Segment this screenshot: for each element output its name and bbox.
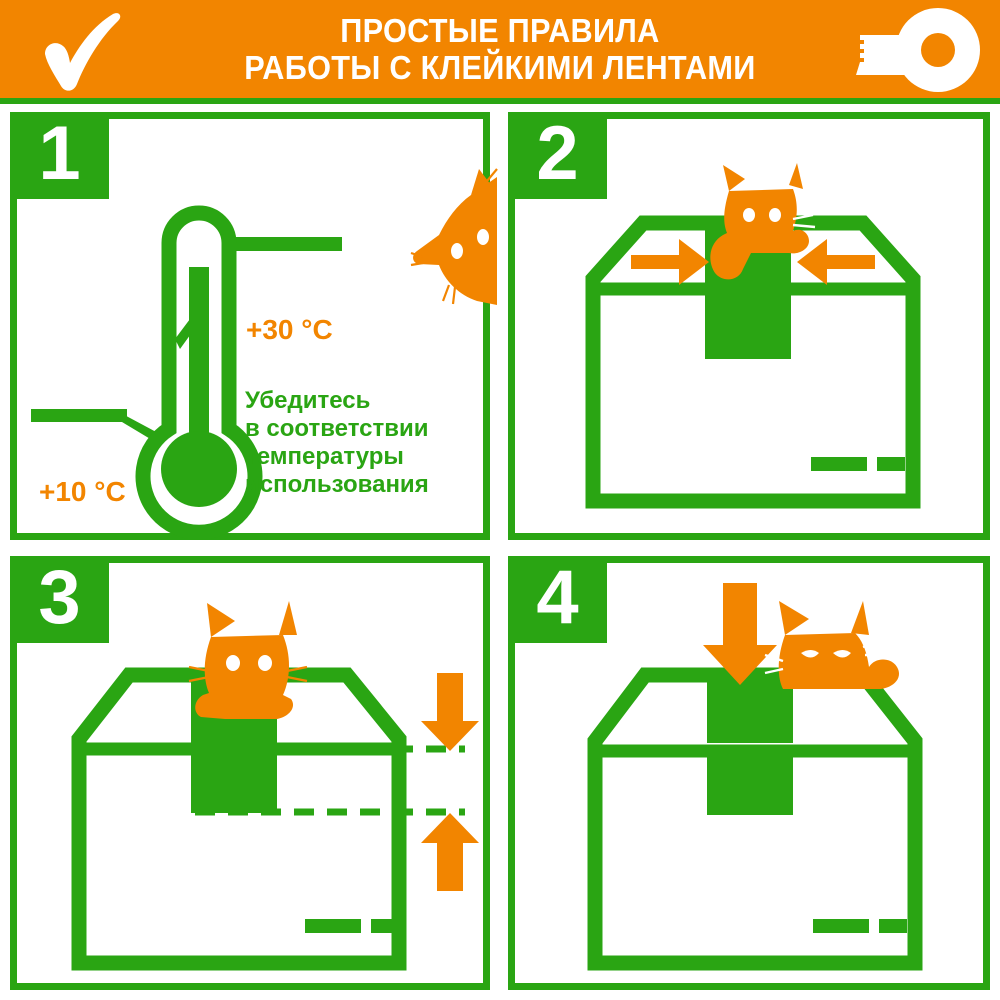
step-number-badge-4: 4	[508, 556, 607, 643]
title-line-2: РАБОТЫ С КЛЕЙКИМИ ЛЕНТАМИ	[244, 49, 755, 86]
cat-lying-on-box-icon	[763, 595, 923, 715]
temperature-min-label: +10 °C	[39, 477, 126, 507]
check-mark-icon	[33, 8, 129, 94]
cat-draped-over-box-icon	[693, 157, 823, 287]
step-1-instruction: Убедитесь в соответствии температуры исп…	[245, 387, 429, 499]
step-panel-1: 1	[10, 112, 490, 540]
step-panel-3: 3	[10, 556, 490, 990]
temperature-max-label: +30 °C	[246, 315, 333, 345]
step-panel-4: 4 Прижмите ленту к поверх	[508, 556, 990, 990]
step-number-badge-3: 3	[10, 556, 109, 643]
step-number-badge-2: 2	[508, 112, 607, 199]
infographic-poster: ПРОСТЫЕ ПРАВИЛА РАБОТЫ С КЛЕЙКИМИ ЛЕНТАМ…	[0, 0, 1000, 1000]
title-line-1: ПРОСТЫЕ ПРАВИЛА	[244, 12, 755, 49]
page-title: ПРОСТЫЕ ПРАВИЛА РАБОТЫ С КЛЕЙКИМИ ЛЕНТАМ…	[244, 12, 755, 86]
cat-peeking-icon	[409, 159, 499, 329]
header-underline	[0, 98, 1000, 104]
poster-header: ПРОСТЫЕ ПРАВИЛА РАБОТЫ С КЛЕЙКИМИ ЛЕНТАМ…	[0, 0, 1000, 98]
cat-in-box-icon	[185, 593, 315, 723]
tape-roll-icon	[842, 6, 990, 96]
step-number-badge-1: 1	[10, 112, 109, 199]
step-panel-2: 2 Расположите л	[508, 112, 990, 540]
